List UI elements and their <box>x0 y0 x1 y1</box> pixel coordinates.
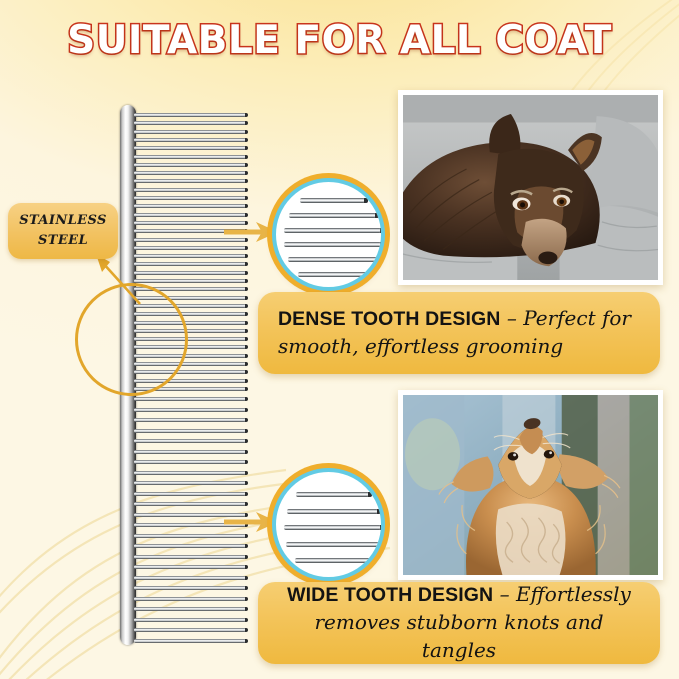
magnified-comb-pin <box>295 558 371 563</box>
comb-tooth <box>134 450 246 454</box>
comb-tooth <box>134 146 246 150</box>
badge-line-1: STAINLESS <box>19 211 107 231</box>
comb-tooth <box>134 565 246 569</box>
comb-tooth <box>134 246 246 250</box>
comb-tooth <box>134 171 246 175</box>
comb-tooth <box>134 163 246 167</box>
magnified-comb-pin <box>289 213 376 218</box>
dog-photo-long-haired-golden <box>398 390 663 580</box>
comb-tooth <box>134 492 246 496</box>
comb-tooth <box>134 262 246 266</box>
magnified-comb-pin <box>284 242 381 247</box>
feature-wide-tooth-design: WIDE TOOTH DESIGN – Effortlessly removes… <box>258 582 660 664</box>
feature-dense-text: DENSE TOOTH DESIGN – Perfect for smooth,… <box>278 305 640 361</box>
comb-tooth <box>134 121 246 125</box>
comb-tooth <box>134 481 246 485</box>
magnified-comb-pin <box>287 509 379 514</box>
comb-tooth <box>134 471 246 475</box>
wide-tooth-closeup-magnifier <box>272 468 385 581</box>
comb-tooth <box>134 397 246 401</box>
comb-tooth <box>134 586 246 590</box>
comb-tooth <box>134 460 246 464</box>
comb-tooth <box>134 155 246 159</box>
comb-tooth <box>134 138 246 142</box>
comb-tooth <box>134 639 246 643</box>
magnified-comb-pin <box>298 272 367 277</box>
comb-tooth <box>134 213 246 217</box>
comb-tooth <box>134 544 246 548</box>
magnified-comb-pin <box>296 492 369 497</box>
comb-tooth <box>134 179 246 183</box>
stainless-steel-badge: STAINLESS STEEL <box>8 203 118 259</box>
comb-tooth <box>134 254 246 258</box>
comb-tooth <box>134 408 246 412</box>
comb-tooth <box>134 130 246 134</box>
comb-tooth <box>134 628 246 632</box>
comb-tooth <box>134 576 246 580</box>
comb-tooth <box>134 502 246 506</box>
feature-wide-text: WIDE TOOTH DESIGN – Effortlessly removes… <box>278 581 640 665</box>
comb-tooth <box>134 188 246 192</box>
product-infographic: SUITABLE FOR ALL COAT SUITABLE FOR ALL C… <box>0 0 679 679</box>
comb-tooth <box>134 418 246 422</box>
comb-tooth <box>134 271 246 275</box>
comb-tooth <box>134 555 246 559</box>
magnified-comb-pin <box>284 228 381 233</box>
comb-tooth <box>134 279 246 283</box>
feature-dense-tooth-design: DENSE TOOTH DESIGN – Perfect for smooth,… <box>258 292 660 374</box>
dog-photo-australian-shepherd <box>398 90 663 285</box>
magnified-comb-pin <box>288 257 377 262</box>
comb-tooth <box>134 429 246 433</box>
comb-tooth <box>134 597 246 601</box>
comb-tooth <box>134 607 246 611</box>
feature-dense-dash: – <box>500 306 523 330</box>
dense-tooth-closeup-magnifier <box>272 178 385 291</box>
arrow-to-stainless-badge <box>78 252 148 312</box>
badge-line-2: STEEL <box>38 231 88 251</box>
comb-tooth <box>134 113 246 117</box>
feature-dense-heading: DENSE TOOTH DESIGN <box>278 308 500 330</box>
feature-wide-dash: – <box>493 582 516 606</box>
magnified-comb-pin <box>300 198 365 203</box>
page-title: SUITABLE FOR ALL COAT <box>0 18 679 63</box>
comb-tooth <box>134 204 246 208</box>
magnified-comb-pin <box>286 542 379 547</box>
feature-wide-heading: WIDE TOOTH DESIGN <box>287 584 493 606</box>
comb-tooth <box>134 439 246 443</box>
comb-tooth <box>134 196 246 200</box>
magnified-comb-pin <box>284 525 382 530</box>
comb-tooth <box>134 618 246 622</box>
